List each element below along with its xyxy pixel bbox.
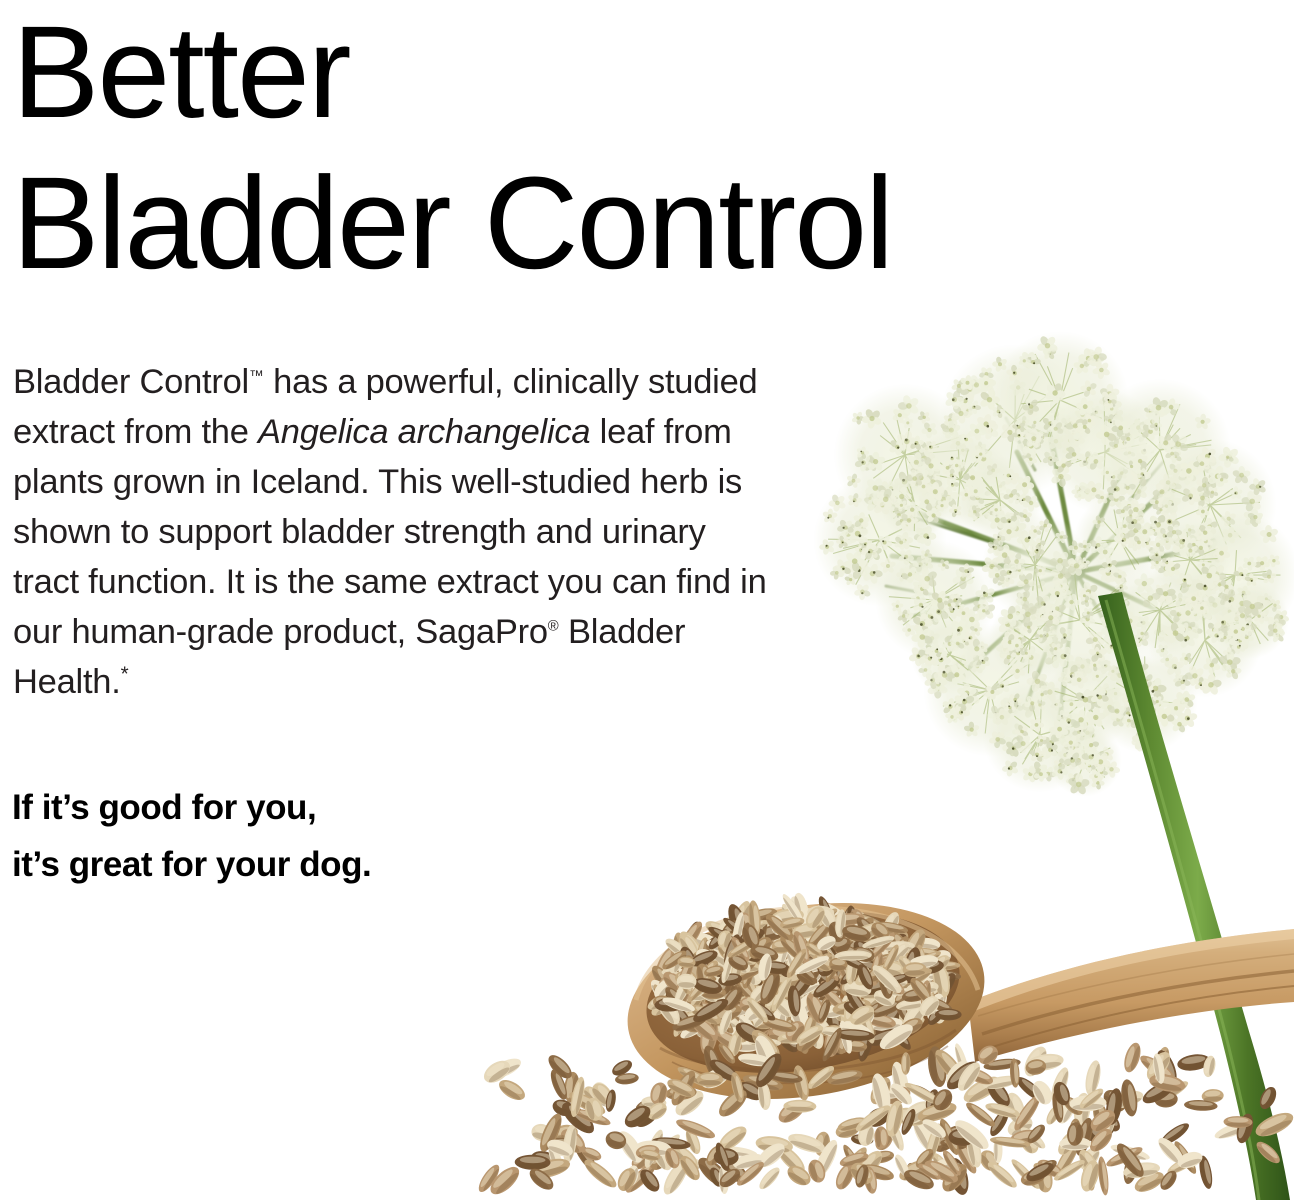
registered-trademark-icon: ®: [548, 618, 559, 634]
product-name: Bladder Control: [13, 363, 249, 401]
trademark-icon: ™: [249, 368, 264, 384]
text-content: Better Bladder Control Bladder Control™ …: [0, 0, 1294, 1200]
page-title: Better Bladder Control: [12, 0, 1022, 298]
tagline: If it’s good for you, it’s great for you…: [12, 779, 712, 893]
advertisement-panel: Better Bladder Control Bladder Control™ …: [0, 0, 1294, 1200]
brand-name: SagaPro: [415, 613, 548, 651]
description-paragraph: Bladder Control™ has a powerful, clinica…: [13, 357, 773, 707]
species-name: Angelica archangelica: [258, 413, 590, 451]
footnote-asterisk: *: [121, 662, 129, 685]
